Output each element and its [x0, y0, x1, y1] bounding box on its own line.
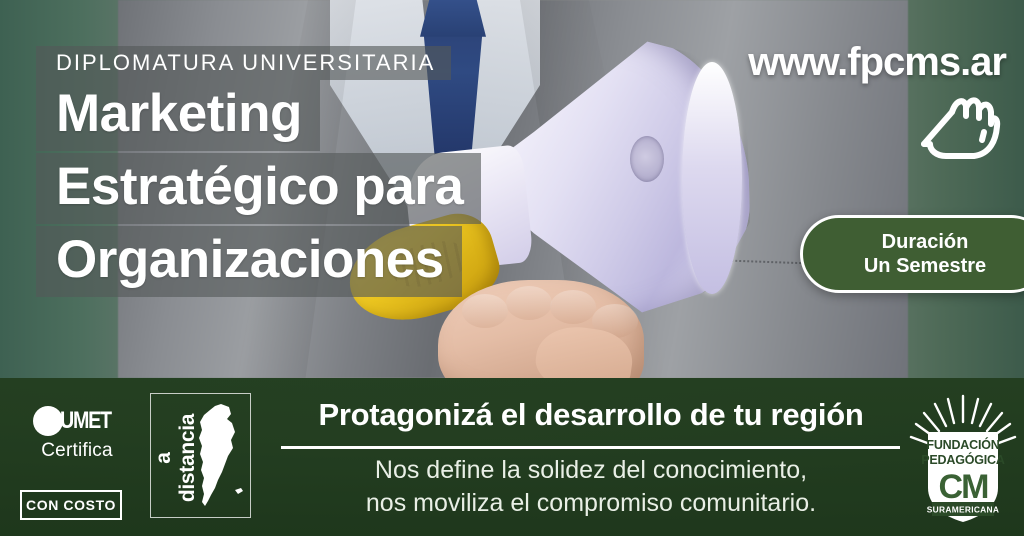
duration-badge: Duración Un Semestre [800, 215, 1024, 293]
duration-label: Duración [882, 230, 969, 254]
duration-value: Un Semestre [864, 254, 986, 278]
promotional-banner: DIPLOMATURA UNIVERSITARIA Marketing Estr… [0, 0, 1024, 536]
footer-tagline: Protagonizá el desarrollo de tu región [281, 397, 901, 433]
svg-text:CM: CM [939, 468, 989, 506]
svg-text:PEDAGÓGICA: PEDAGÓGICA [921, 452, 1005, 467]
website-url[interactable]: www.fpcms.ar [748, 40, 1006, 85]
cost-badge: CON COSTO [20, 490, 122, 520]
megaphone-screw [630, 136, 664, 182]
knuckle [550, 290, 596, 324]
argentina-map-icon [191, 402, 247, 512]
title-line-3: Organizaciones [36, 226, 462, 297]
knuckle [462, 294, 508, 328]
footer-subtitle-line-1: Nos define la solidez del conocimiento, [281, 454, 901, 487]
footer-divider [281, 446, 900, 449]
title-line-1: Marketing [36, 80, 320, 151]
umet-dot [33, 406, 63, 436]
title-line-2: Estratégico para [36, 153, 481, 224]
modality-panel: a distancia [150, 393, 251, 518]
svg-text:FUNDACIÓN: FUNDACIÓN [926, 437, 999, 452]
eyebrow-text: DIPLOMATURA UNIVERSITARIA [36, 46, 451, 80]
knuckle [506, 286, 552, 320]
svg-text:SURAMERICANA: SURAMERICANA [927, 505, 999, 515]
page-title: Marketing Estratégico para Organizacione… [36, 80, 481, 299]
umet-certifies-label: Certifica [18, 440, 136, 462]
umet-logo: UMET Certifica [18, 404, 136, 462]
eyebrow-wrapper: DIPLOMATURA UNIVERSITARIA [36, 46, 451, 80]
megaphone-rim [682, 62, 742, 294]
umet-wordmark: UMET [60, 407, 111, 435]
footer-subtitle: Nos define la solidez del conocimiento, … [281, 454, 901, 519]
foundation-logo: FUNDACIÓN PEDAGÓGICA CM SURAMERICANA [908, 392, 1018, 527]
pointing-hand-icon [912, 88, 1002, 166]
umet-circle-icon: UMET [18, 404, 136, 438]
footer-subtitle-line-2: nos moviliza el compromiso comunitario. [281, 487, 901, 520]
